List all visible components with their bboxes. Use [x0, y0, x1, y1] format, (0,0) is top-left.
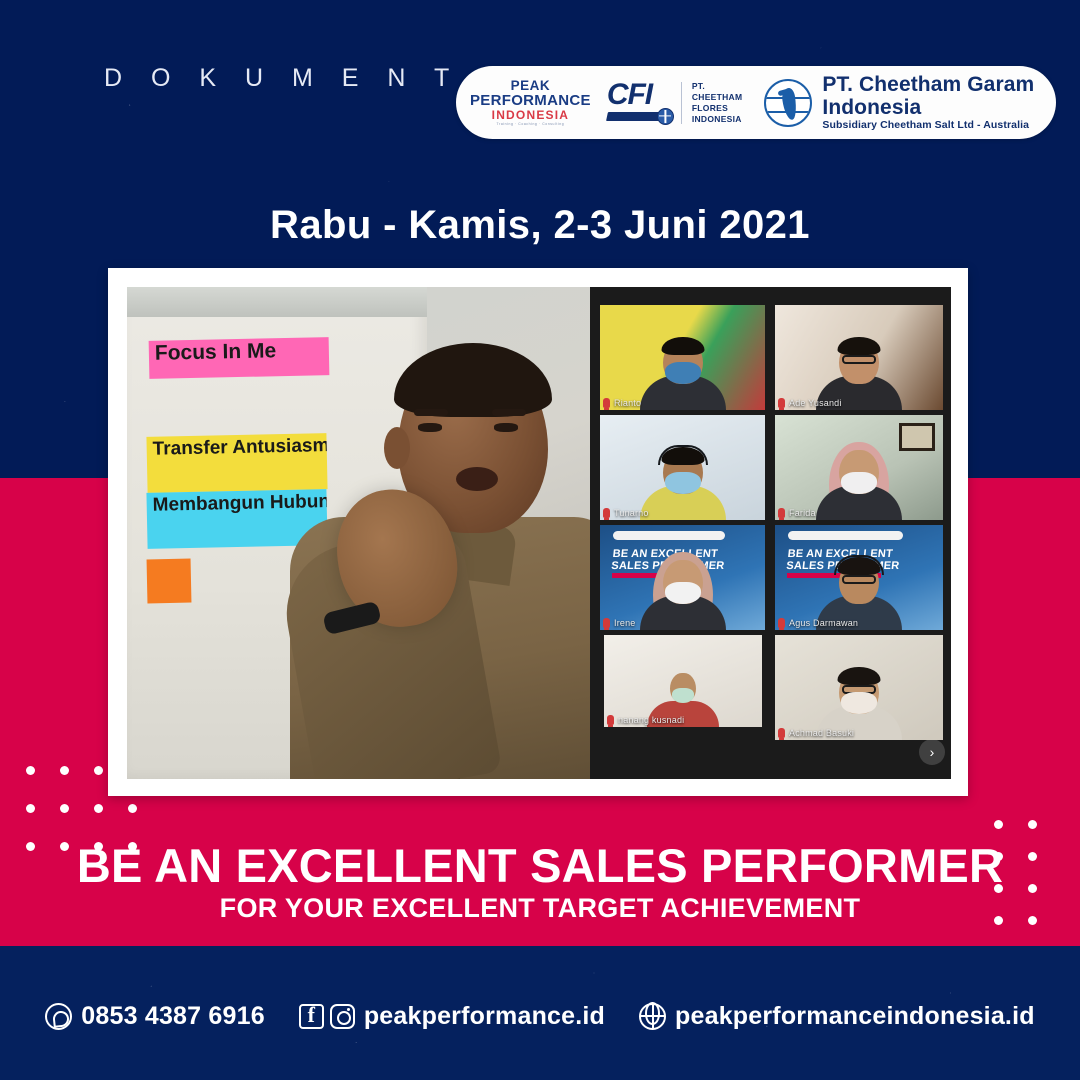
decor-dot [94, 804, 103, 813]
social-handle: peakperformance.id [364, 1002, 605, 1031]
participant-tile[interactable]: Achmad Basuki [775, 635, 943, 740]
cfi-letters: CFI [607, 80, 671, 110]
vb-toolbar [788, 531, 902, 540]
cfi-logo: CFI PT. CHEETHAM FLORES INDONESIA [607, 80, 743, 126]
participant-hair [661, 337, 704, 355]
website-contact[interactable]: peakperformanceindonesia.id [639, 1002, 1035, 1031]
peak-logo-tagline: Training · Coaching · Consulting [470, 123, 591, 126]
participant-tile[interactable]: Ade Yusandi [775, 305, 943, 410]
cfi-line1: PT. [692, 81, 743, 92]
participant-tile[interactable]: BE AN EXCELLENTSALES PERFORMERIrene [600, 525, 765, 630]
participant-face-mask [841, 472, 877, 494]
website-url: peakperformanceindonesia.id [675, 1002, 1035, 1031]
microphone-icon [607, 715, 614, 725]
cfi-line4: INDONESIA [692, 114, 743, 125]
decor-dot [26, 804, 35, 813]
meeting-screenshot: Focus In Me Transfer Antusiasme Membangu… [127, 287, 951, 779]
participant-name-tag: Achmad Basuki [778, 728, 854, 738]
whatsapp-icon [45, 1003, 72, 1030]
footer-contacts: 0853 4387 6916 peakperformance.id peakpe… [0, 994, 1080, 1038]
logo-divider [681, 82, 682, 124]
speaker-brow [492, 409, 526, 416]
participant-hair [838, 667, 881, 685]
participant-name-tag: Ade Yusandi [778, 398, 842, 408]
cfi-line2: CHEETHAM [692, 92, 743, 103]
participant-name-tag: Agus Darmawan [778, 618, 858, 628]
social-contact[interactable]: peakperformance.id [299, 1002, 605, 1031]
page-subtitle: FOR YOUR EXCELLENT TARGET ACHIEVEMENT [0, 893, 1080, 924]
participant-name: Farida [789, 508, 816, 518]
speaker-ear [384, 427, 410, 469]
speaker-hair [394, 343, 552, 417]
whatsapp-contact[interactable]: 0853 4387 6916 [45, 1002, 265, 1031]
participant-name: nanang kusnadi [618, 715, 684, 725]
participant-name-tag: Rianto [603, 398, 641, 408]
social-icon-pair [299, 1004, 355, 1029]
vb-toolbar [613, 531, 725, 540]
participant-name: Ade Yusandi [789, 398, 842, 408]
peak-logo-line3: INDONESIA [470, 109, 591, 121]
poster-canvas: D O K U M E N T A S I PEAK PERFORMANCE I… [0, 0, 1080, 1080]
participant-tile[interactable]: BE AN EXCELLENTSALES PERFORMERAgus Darma… [775, 525, 943, 630]
speaker-eye [418, 423, 442, 432]
cfi-mark-icon: CFI [607, 80, 671, 126]
decor-dot [1028, 820, 1037, 829]
peak-performance-logo: PEAK PERFORMANCE INDONESIA Training · Co… [470, 79, 591, 127]
participant-name: Tunarno [614, 508, 649, 518]
participant-face-mask [665, 472, 701, 494]
participant-tile[interactable]: Farida [775, 415, 943, 520]
participant-glasses [842, 575, 876, 584]
speaker-eye [494, 423, 518, 432]
participant-face-mask [665, 362, 701, 384]
globe-ellipse [645, 1002, 660, 1025]
whatsapp-number: 0853 4387 6916 [81, 1002, 265, 1031]
microphone-icon [603, 508, 610, 518]
participant-grid: › RiantoAde YusandiTunarnoFaridaBE AN EX… [590, 287, 951, 779]
participant-glasses [842, 355, 876, 364]
decor-dot [994, 820, 1003, 829]
cheetham-text-block: PT. Cheetham Garam Indonesia Subsidiary … [822, 73, 1056, 132]
page-title: BE AN EXCELLENT SALES PERFORMER [0, 838, 1080, 893]
participant-face-mask [665, 582, 701, 604]
wall-picture-frame [899, 423, 935, 451]
decor-dot [60, 804, 69, 813]
flipchart-rail [127, 287, 427, 317]
participant-name: Irene [614, 618, 636, 628]
participant-name-tag: nanang kusnadi [607, 715, 684, 725]
event-date: Rabu - Kamis, 2-3 Juni 2021 [0, 203, 1080, 248]
speaker-brow [414, 409, 448, 416]
cheetham-logo: PT. Cheetham Garam Indonesia Subsidiary … [764, 73, 1056, 132]
photo-frame: Focus In Me Transfer Antusiasme Membangu… [108, 268, 968, 796]
microphone-icon [603, 398, 610, 408]
peak-logo-line2: PERFORMANCE [470, 93, 591, 108]
sticky-note-4 [147, 559, 192, 604]
globe-web-icon [639, 1003, 666, 1030]
participant-tile[interactable]: Tunarno [600, 415, 765, 520]
cfi-line3: FLORES [692, 103, 743, 114]
microphone-icon [778, 508, 785, 518]
participant-name: Rianto [614, 398, 641, 408]
microphone-icon [778, 398, 785, 408]
decor-dot [26, 766, 35, 775]
peak-logo-line1: PEAK [470, 79, 591, 93]
microphone-icon [778, 728, 785, 738]
participant-tile[interactable]: Rianto [600, 305, 765, 410]
participant-hair [838, 337, 881, 355]
participant-tile[interactable]: nanang kusnadi [604, 635, 762, 727]
facebook-icon[interactable] [299, 1004, 324, 1029]
microphone-icon [778, 618, 785, 628]
decor-dot [94, 766, 103, 775]
instagram-icon[interactable] [330, 1004, 355, 1029]
speaker-mouth [456, 467, 498, 491]
cfi-company-text: PT. CHEETHAM FLORES INDONESIA [692, 81, 743, 125]
decor-dot [128, 804, 137, 813]
participant-face-mask [672, 688, 694, 703]
participant-name-tag: Irene [603, 618, 636, 628]
participant-name: Agus Darmawan [789, 618, 858, 628]
microphone-icon [603, 618, 610, 628]
participant-name-tag: Tunarno [603, 508, 649, 518]
cheetham-title: PT. Cheetham Garam Indonesia [822, 73, 1056, 119]
globe-icon [657, 108, 674, 125]
logo-bar: PEAK PERFORMANCE INDONESIA Training · Co… [456, 66, 1056, 139]
seahorse-icon [764, 79, 812, 127]
next-page-arrow-icon[interactable]: › [919, 739, 945, 765]
speaker-figure [280, 339, 590, 779]
decor-dot [60, 766, 69, 775]
participant-face-mask [841, 692, 877, 714]
participant-name-tag: Farida [778, 508, 816, 518]
participant-name: Achmad Basuki [789, 728, 854, 738]
cheetham-subtitle: Subsidiary Cheetham Salt Ltd - Australia [822, 119, 1056, 132]
speaker-video-pane: Focus In Me Transfer Antusiasme Membangu… [127, 287, 590, 779]
